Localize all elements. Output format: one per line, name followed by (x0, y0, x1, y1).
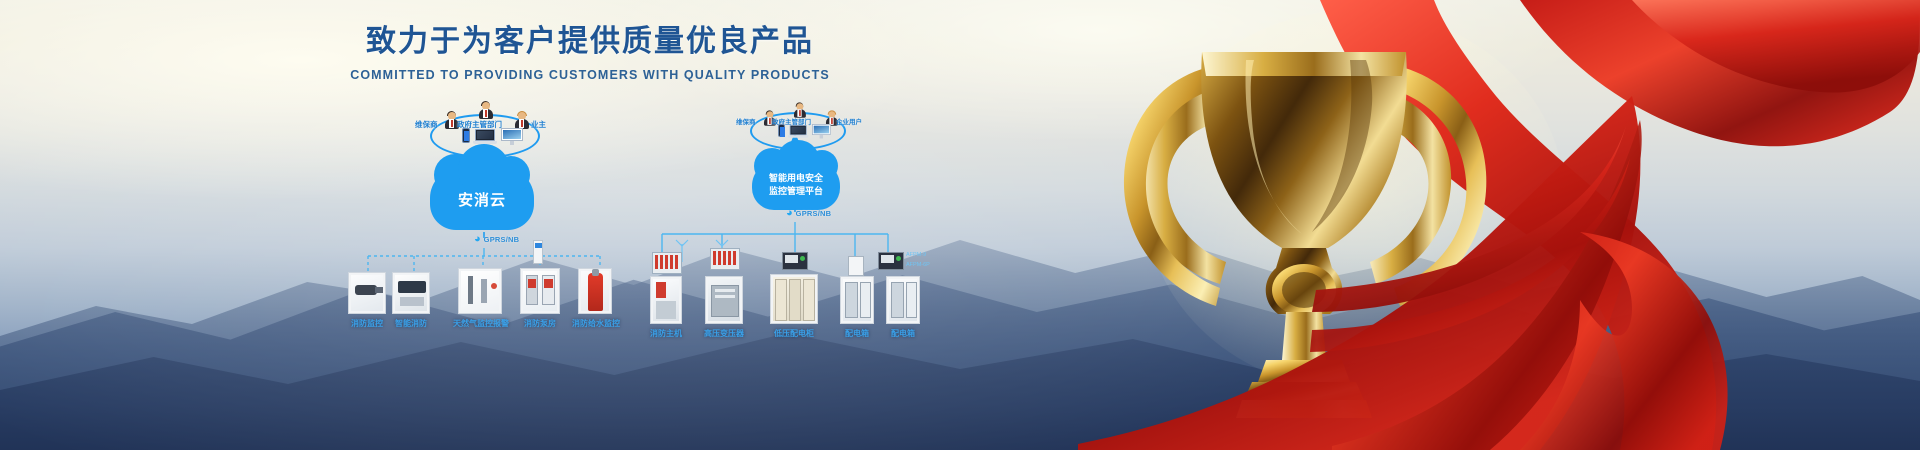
promo-banner: 致力于为客户提供质量优良产品 COMMITTED TO PROVIDING CU… (0, 0, 1920, 450)
left-device-label-3: 消防泵房 (518, 318, 562, 329)
left-device-label-1: 智能消防 (389, 318, 433, 329)
wifi-icon: ◕ (786, 208, 793, 219)
right-breaker-rack-0 (652, 252, 682, 274)
right-terminal-monitor-icon (812, 124, 831, 138)
left-gprs-label: GPRS/NB (484, 235, 520, 244)
left-device-label-2: 天然气监控报警 (448, 318, 514, 329)
left-gprs-link-tag: ◕ GPRS/NB (474, 234, 519, 245)
right-sensor-tag-1: AFPM-6P (906, 262, 930, 268)
right-cloud-label-line1: 智能用电安全 (769, 172, 823, 185)
right-controller-module-2 (878, 252, 904, 270)
page-title-chinese: 致力于为客户提供质量优良产品 (0, 16, 1180, 60)
left-device-thumb-1 (392, 272, 430, 314)
left-terminal-monitor-icon (501, 128, 523, 145)
left-device-thumb-3 (520, 268, 560, 314)
right-device-thumb-1 (705, 276, 743, 324)
left-sensor-device (533, 240, 543, 264)
right-sensor-tag-0: AFPM-9 (906, 252, 926, 258)
right-user-label-0: 维保商 (736, 116, 756, 126)
right-cloud-platform-node: 智能用电安全 监控管理平台 (752, 160, 840, 210)
left-terminal-smartphone-icon (462, 128, 470, 143)
right-breaker-rack-1 (710, 248, 740, 270)
wifi-icon: ◕ (474, 234, 481, 245)
right-gprs-label: GPRS/NB (796, 209, 832, 218)
left-device-thumb-2 (458, 268, 502, 314)
right-terminal-laptop-icon (788, 125, 808, 139)
left-terminal-laptop-icon (473, 129, 497, 145)
banner-heading-block: 致力于为客户提供质量优良产品 COMMITTED TO PROVIDING CU… (0, 16, 1180, 82)
left-user-icon-2 (514, 112, 529, 129)
right-device-label-1: 高压变压器 (694, 328, 754, 339)
right-device-thumb-4 (886, 276, 920, 324)
left-device-label-0: 消防监控 (345, 318, 389, 329)
page-subtitle-english: COMMITTED TO PROVIDING CUSTOMERS WITH QU… (0, 68, 1180, 82)
left-device-thumb-4 (578, 268, 612, 314)
right-user-label-2: 企业用户 (836, 116, 862, 126)
right-device-thumb-3 (840, 276, 874, 324)
left-user-label-2: 业主 (531, 119, 546, 130)
right-device-label-3: 配电箱 (833, 328, 881, 339)
right-cloud-label-line2: 监控管理平台 (769, 185, 823, 198)
left-device-thumb-0 (348, 272, 386, 314)
left-cloud-platform-node: 安消云 (430, 168, 534, 230)
right-device-thumb-2 (770, 274, 818, 324)
left-user-icon-1 (478, 102, 493, 119)
right-controller-module-1 (848, 256, 864, 276)
right-device-thumb-0 (650, 276, 682, 324)
right-device-label-0: 消防主机 (642, 328, 690, 339)
right-gprs-link-tag: ◕ GPRS/NB (786, 208, 831, 219)
right-device-label-2: 低压配电柜 (764, 328, 824, 339)
right-terminal-smartphone-icon (778, 124, 785, 137)
right-device-label-4: 配电箱 (879, 328, 927, 339)
left-user-label-0: 维保商 (415, 119, 438, 130)
left-cloud-label: 安消云 (458, 189, 506, 210)
right-controller-module-0 (782, 252, 808, 270)
left-device-label-4: 消防给水监控 (566, 318, 626, 329)
